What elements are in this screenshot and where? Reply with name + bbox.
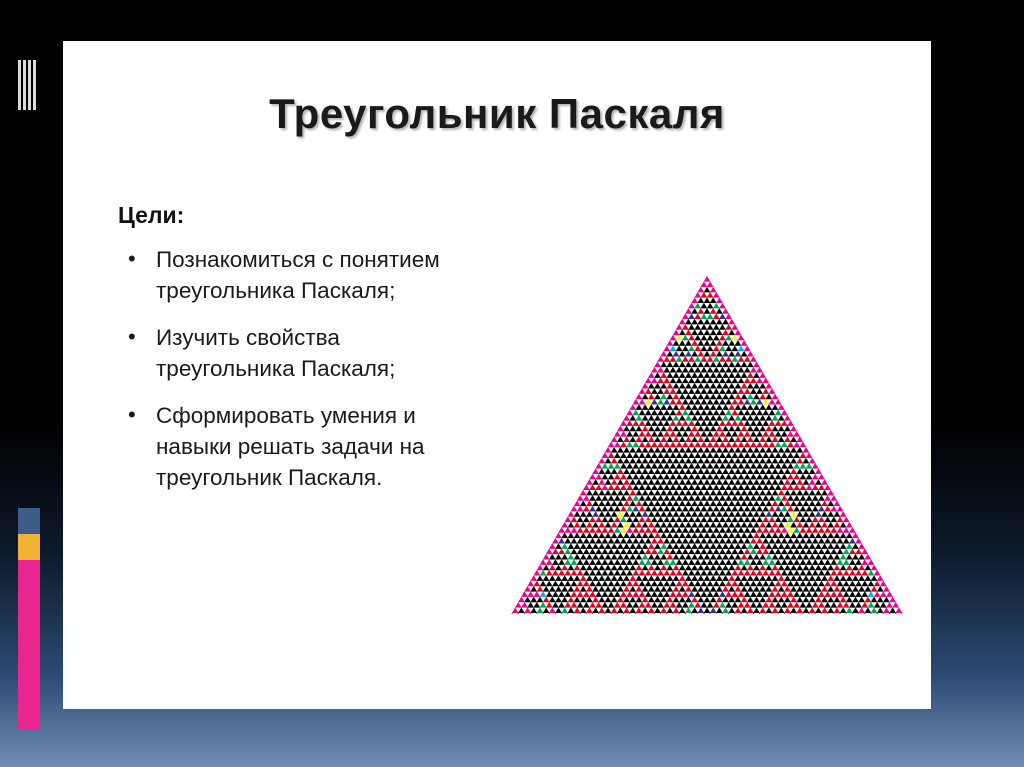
list-item-label: Познакомиться с понятием треугольника Па…: [156, 247, 440, 303]
decor-bar: [28, 60, 31, 110]
decor-top-bars: [18, 60, 40, 110]
decor-bar-magenta: [18, 560, 40, 730]
pascal-triangle-figure: Треугольник Паскаля — цветная треугольна…: [509, 272, 905, 614]
pascal-triangle-image: Треугольник Паскаля — цветная треугольна…: [509, 272, 905, 614]
decor-bar-yellow: [18, 534, 40, 560]
list-item-label: Сформировать умения и навыки решать зада…: [156, 403, 425, 490]
decor-left-stack: [18, 508, 40, 730]
bullet-marker-icon: •: [128, 244, 136, 274]
list-item: • Познакомиться с понятием треугольника …: [118, 244, 478, 306]
slide-card: Треугольник Паскаля Цели: • Познакомитьс…: [64, 42, 930, 708]
goals-label: Цели:: [118, 202, 184, 229]
bullet-marker-icon: •: [128, 322, 136, 352]
decor-bar: [23, 60, 26, 110]
bullet-marker-icon: •: [128, 400, 136, 430]
list-item-label: Изучить свойства треугольника Паскаля;: [156, 325, 395, 381]
decor-bar: [18, 60, 21, 110]
page-title: Треугольник Паскаля: [64, 90, 930, 138]
list-item: • Сформировать умения и навыки решать за…: [118, 400, 478, 493]
decor-bar-blue: [18, 508, 40, 534]
goals-list: • Познакомиться с понятием треугольника …: [118, 244, 478, 509]
list-item: • Изучить свойства треугольника Паскаля;: [118, 322, 478, 384]
decor-bar: [33, 60, 36, 110]
slide-root: Треугольник Паскаля Цели: • Познакомитьс…: [0, 0, 1024, 767]
